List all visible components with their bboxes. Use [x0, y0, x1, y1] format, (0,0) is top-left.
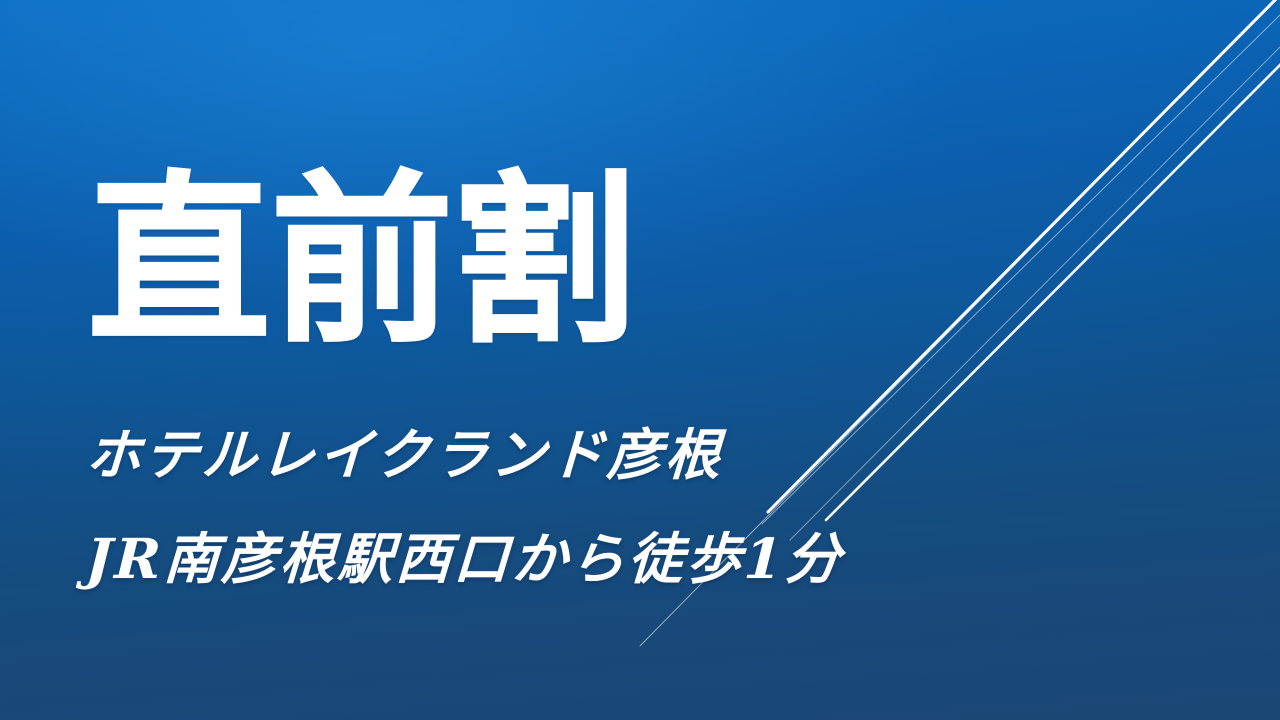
- subtitle-access-info: JR南彦根駅西口から徒歩1分: [84, 519, 846, 599]
- subtitle-group: ホテルレイクランド彦根 JR南彦根駅西口から徒歩1分: [86, 415, 843, 599]
- headline-chokuzenwari: 直前割: [88, 170, 637, 352]
- text-block: 直前割 ホテルレイクランド彦根 JR南彦根駅西口から徒歩1分: [0, 0, 1280, 720]
- promo-slide: 直前割 ホテルレイクランド彦根 JR南彦根駅西口から徒歩1分: [0, 0, 1280, 720]
- subtitle-hotel-name: ホテルレイクランド彦根: [84, 415, 846, 495]
